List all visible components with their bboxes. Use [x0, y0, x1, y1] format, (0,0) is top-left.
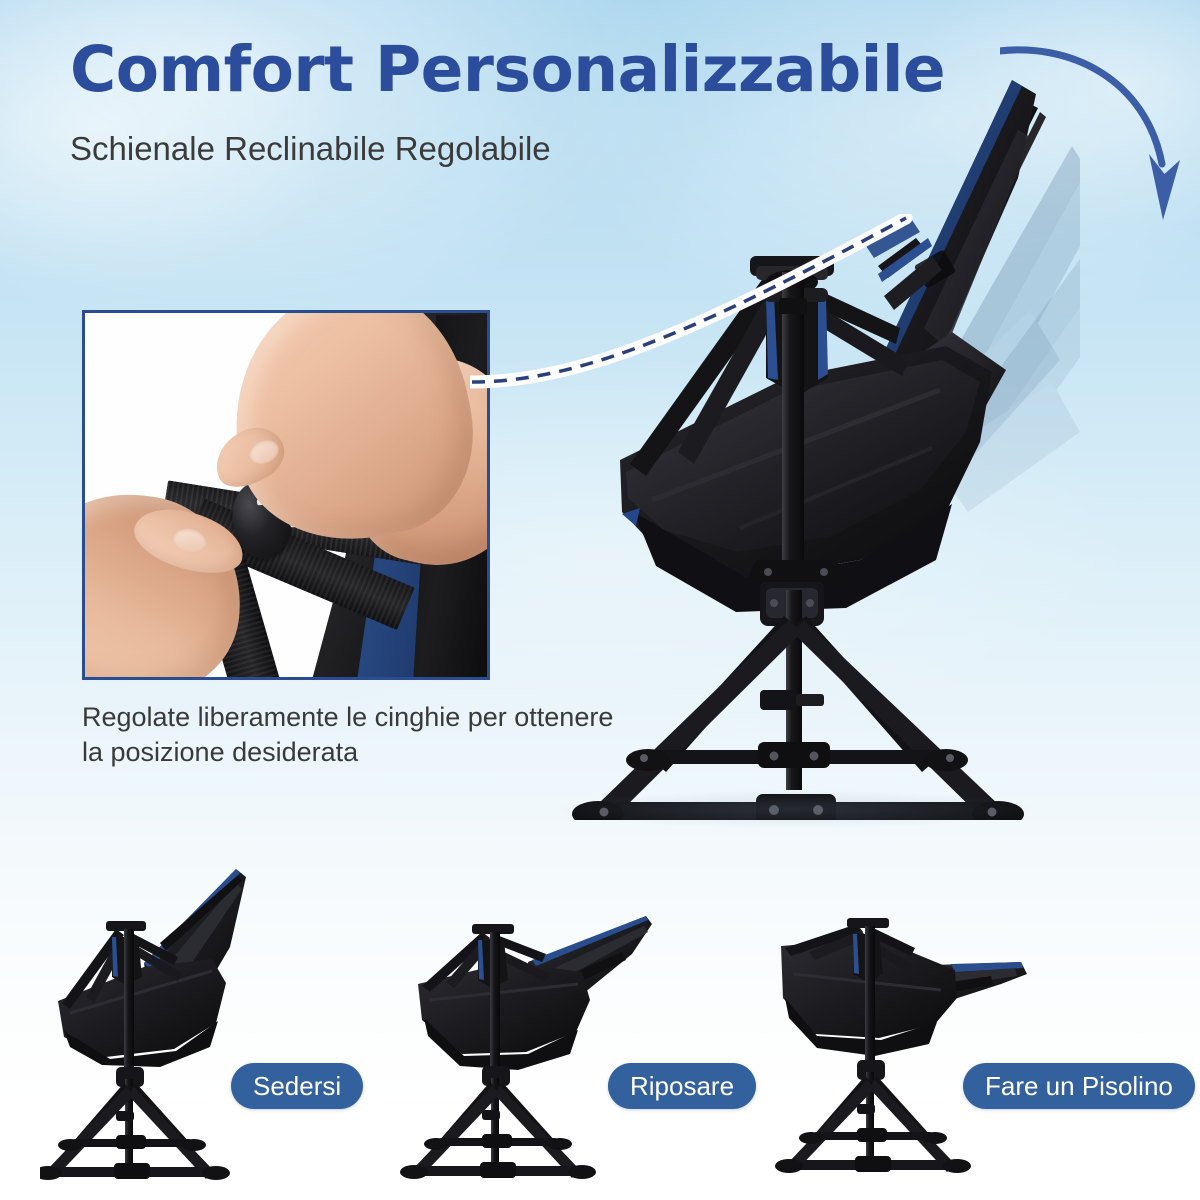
main-product-image — [560, 60, 1080, 820]
position-badge-pisolino[interactable]: Fare un Pisolino — [963, 1063, 1195, 1109]
position-badge-riposare[interactable]: Riposare — [608, 1063, 756, 1109]
position-thumbnail-sedersi — [40, 855, 370, 1200]
inset-caption: Regolate liberamente le cinghie per otte… — [82, 700, 622, 770]
dashed-connector-line — [470, 214, 950, 404]
strap-adjustment-photo — [82, 310, 490, 680]
photo-canvas — [85, 313, 487, 677]
position-badge-sedersi[interactable]: Sedersi — [231, 1063, 363, 1109]
page-subtitle: Schienale Reclinabile Regolabile — [70, 130, 551, 168]
position-thumbnail-riposare — [400, 880, 730, 1200]
position-thumbnail-pisolino — [765, 880, 1110, 1200]
